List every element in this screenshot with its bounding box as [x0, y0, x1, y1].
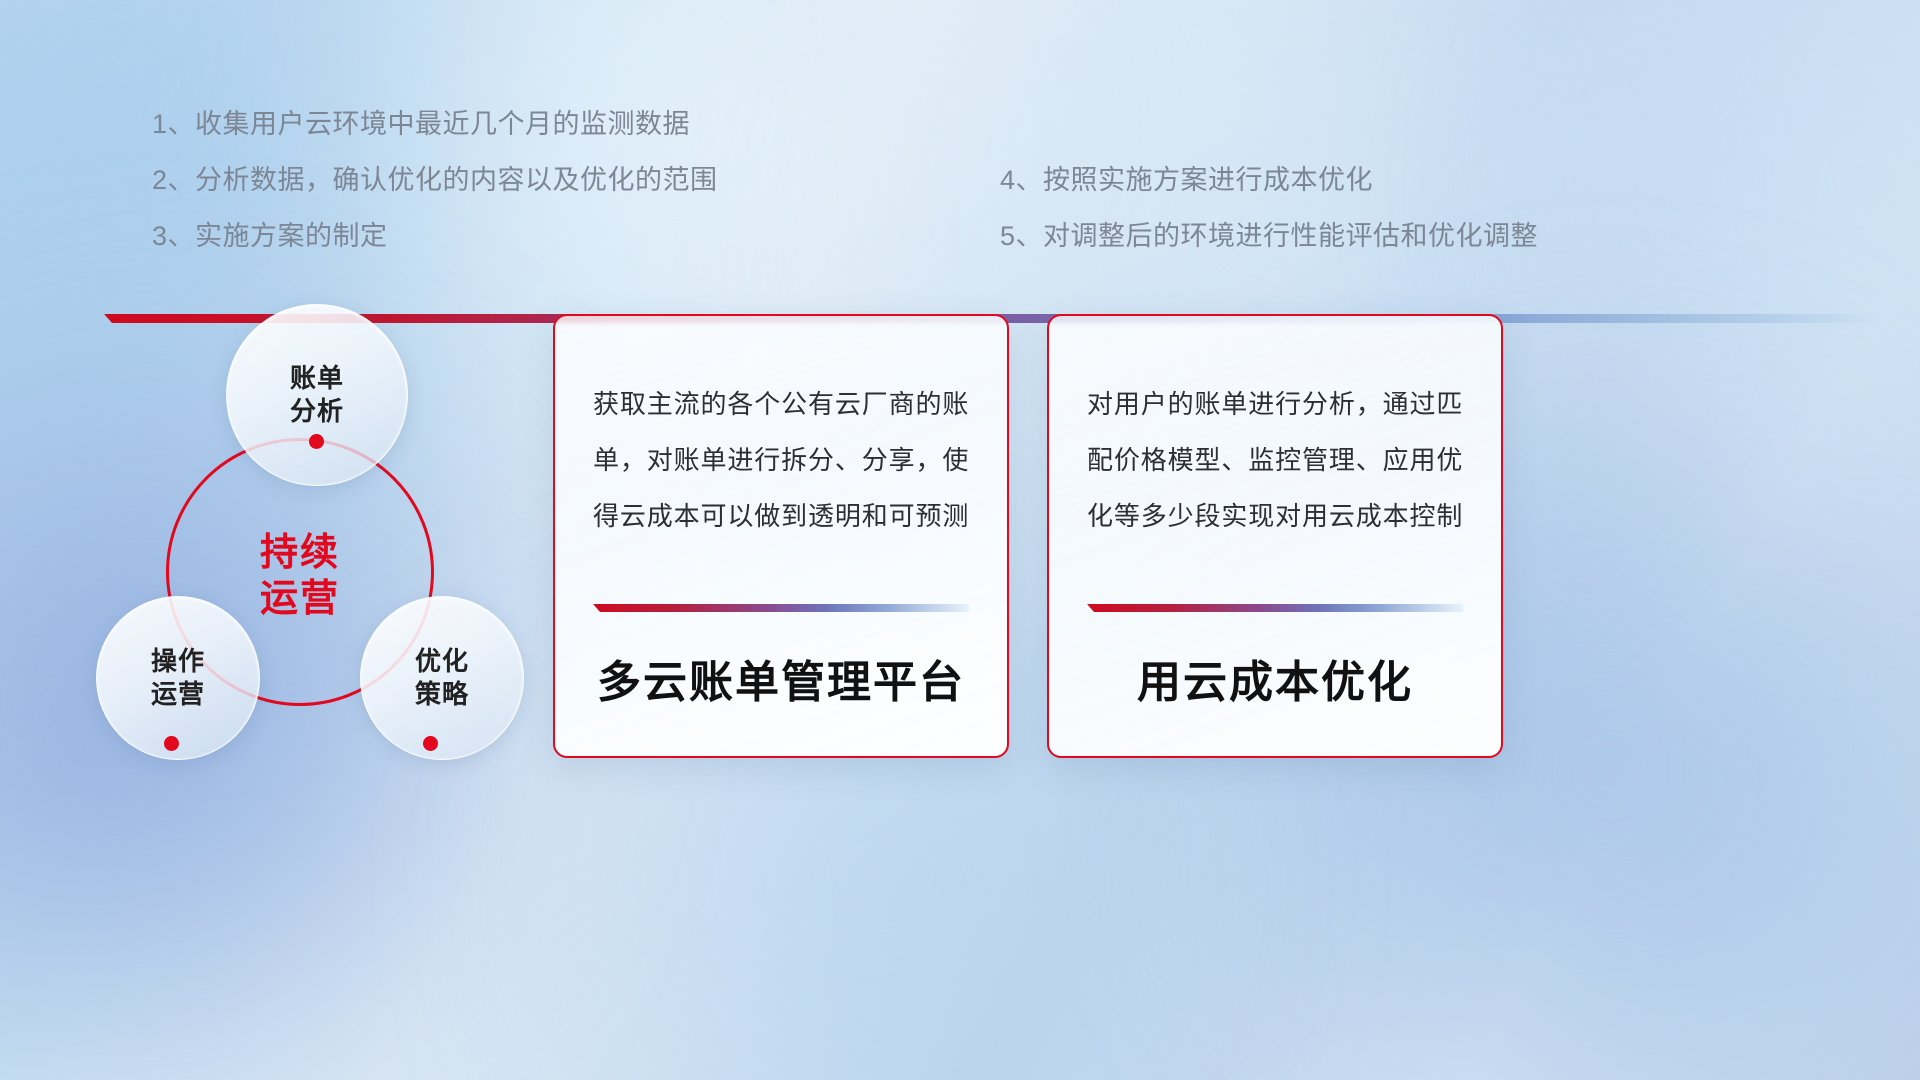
step-item-2: 2、分析数据，确认优化的内容以及优化的范围 [152, 152, 718, 208]
venn-bubble-optimization-strategy[interactable]: 优化 策略 [360, 596, 524, 760]
venn-bubble-top-label: 账单 分析 [290, 362, 344, 429]
venn-bubble-operations[interactable]: 操作 运营 [96, 596, 260, 760]
venn-center-label: 持续 运营 [260, 530, 340, 623]
venn-center-label-line2: 运营 [260, 576, 340, 622]
card-2-body: 对用户的账单进行分析，通过匹配价格模型、监控管理、应用优化等多少段实现对用云成本… [1087, 376, 1463, 544]
venn-node-dot-top [309, 434, 324, 449]
steps-right-column: 4、按照实施方案进行成本优化 5、对调整后的环境进行性能评估和优化调整 [1000, 152, 1538, 264]
card-2-divider-rule [1087, 604, 1463, 612]
feature-card-cost-optimization[interactable]: 对用户的账单进行分析，通过匹配价格模型、监控管理、应用优化等多少段实现对用云成本… [1047, 314, 1503, 758]
venn-bubble-left-label: 操作 运营 [151, 645, 205, 712]
venn-bubble-right-label: 优化 策略 [415, 645, 469, 712]
card-1-title: 多云账单管理平台 [593, 646, 969, 710]
step-item-4: 4、按照实施方案进行成本优化 [1000, 152, 1538, 208]
step-item-3: 3、实施方案的制定 [152, 208, 718, 264]
venn-bubble-right-line2: 策略 [415, 678, 469, 711]
venn-bubble-right-line1: 优化 [415, 645, 469, 678]
venn-bubble-left-line1: 操作 [151, 645, 205, 678]
steps-left-column: 1、收集用户云环境中最近几个月的监测数据 2、分析数据，确认优化的内容以及优化的… [152, 96, 718, 264]
venn-bubble-billing-analysis[interactable]: 账单 分析 [226, 304, 408, 486]
venn-bubble-left-line2: 运营 [151, 678, 205, 711]
card-1-divider-rule [593, 604, 969, 612]
card-2-title: 用云成本优化 [1087, 646, 1463, 710]
venn-node-dot-left [164, 736, 179, 751]
feature-card-multicloud-billing[interactable]: 获取主流的各个公有云厂商的账单，对账单进行拆分、分享，使得云成本可以做到透明和可… [553, 314, 1009, 758]
venn-bubble-top-line1: 账单 [290, 362, 344, 395]
venn-diagram: 持续 运营 账单 分析 操作 运营 优化 策略 [88, 296, 558, 776]
venn-bubble-top-line2: 分析 [290, 395, 344, 428]
venn-node-dot-right [423, 736, 438, 751]
card-1-body: 获取主流的各个公有云厂商的账单，对账单进行拆分、分享，使得云成本可以做到透明和可… [593, 376, 969, 544]
step-item-1: 1、收集用户云环境中最近几个月的监测数据 [152, 96, 718, 152]
venn-center-label-line1: 持续 [260, 530, 340, 576]
step-item-5: 5、对调整后的环境进行性能评估和优化调整 [1000, 208, 1538, 264]
